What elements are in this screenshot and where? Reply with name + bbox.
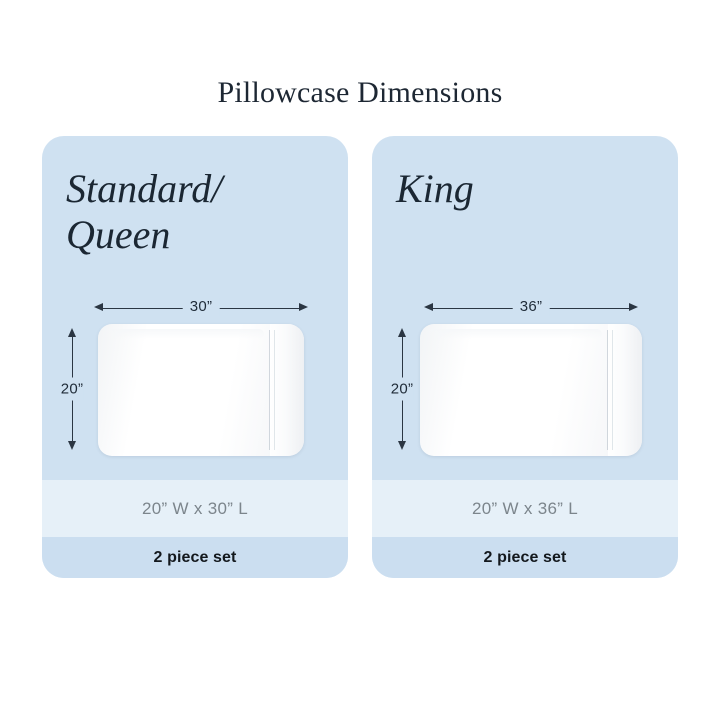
arrow-head-up-icon (398, 328, 406, 337)
arrow-head-right-icon (299, 303, 308, 311)
height-dimension-arrow-king: 20” (394, 328, 410, 450)
size-card-standard-queen[interactable]: Standard/Queen 30” 20” 20” W x 3 (42, 136, 348, 578)
size-card-king[interactable]: King 36” 20” 20” W x 36” L (372, 136, 678, 578)
arrow-head-down-icon (398, 441, 406, 450)
height-dimension-arrow-standard-queen: 20” (64, 328, 80, 450)
width-dimension-arrow-standard-queen: 30” (94, 300, 308, 316)
width-dimension-label-king: 36” (513, 298, 550, 316)
pillow-hem-panel (608, 324, 642, 456)
pillow-diagram-standard-queen: 30” 20” (42, 286, 348, 476)
height-dimension-label-king: 20” (391, 378, 414, 401)
size-label-bar-king: 20” W x 36” L (372, 480, 678, 537)
pillow-hem-seam-inner (274, 330, 275, 450)
pillow-diagram-king: 36” 20” (372, 286, 678, 476)
arrow-head-up-icon (68, 328, 76, 337)
set-label-bar-king: 2 piece set (372, 537, 678, 578)
pillow-image-standard-queen (98, 324, 304, 456)
arrow-head-left-icon (94, 303, 103, 311)
page-title: Pillowcase Dimensions (0, 76, 720, 110)
pillowcase-dimensions-infographic: Pillowcase Dimensions Standard/Queen 30”… (0, 0, 720, 720)
width-dimension-label-standard-queen: 30” (183, 298, 220, 316)
pillow-hem-seam-inner (612, 330, 613, 450)
width-dimension-arrow-king: 36” (424, 300, 638, 316)
set-label-bar-standard-queen: 2 piece set (42, 537, 348, 578)
arrow-head-down-icon (68, 441, 76, 450)
pillow-top-fold (428, 329, 602, 339)
arrow-head-right-icon (629, 303, 638, 311)
pillow-hem-seam-outer (269, 330, 270, 450)
pillow-image-king (420, 324, 642, 456)
pillow-hem-panel (270, 324, 304, 456)
pillow-top-fold (106, 329, 264, 339)
pillow-hem-seam-outer (607, 330, 608, 450)
height-dimension-label-standard-queen: 20” (61, 378, 84, 401)
card-title-king: King (396, 166, 662, 212)
card-title-standard-queen: Standard/Queen (66, 166, 332, 258)
arrow-head-left-icon (424, 303, 433, 311)
size-label-bar-standard-queen: 20” W x 30” L (42, 480, 348, 537)
